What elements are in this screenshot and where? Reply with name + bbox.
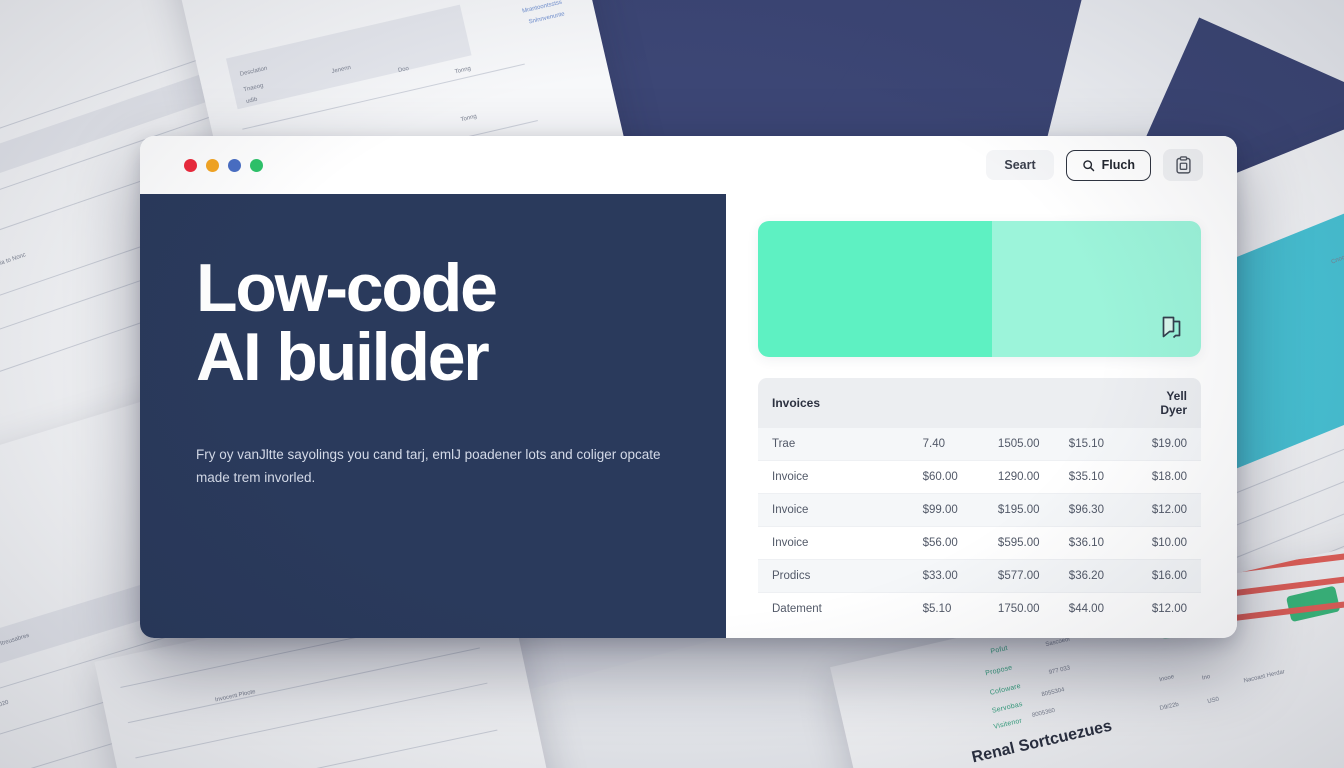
cell-tax: $35.10 xyxy=(1055,461,1130,494)
table-head: Invoices Yell Dyer xyxy=(758,378,1201,428)
restore-window-dot[interactable] xyxy=(250,159,263,172)
cell-label: Trae xyxy=(758,428,909,461)
cell-due: $12.00 xyxy=(1130,593,1201,626)
cell-total: $577.00 xyxy=(984,560,1055,593)
cell-amount: $99.00 xyxy=(909,494,984,527)
table-row[interactable]: Trae7.401505.00$15.10$19.00 xyxy=(758,428,1201,461)
cell-due: $12.00 xyxy=(1130,494,1201,527)
column-header-yell-dyer[interactable]: Yell Dyer xyxy=(1130,378,1201,428)
cell-label: Invoice xyxy=(758,527,909,560)
cell-due: $18.00 xyxy=(1130,461,1201,494)
clipboard-icon xyxy=(1175,156,1192,175)
hero-subtitle: Fry oy vanJltte sayolings you cand tarj,… xyxy=(196,443,666,490)
cell-total: 1750.00 xyxy=(984,593,1055,626)
cell-tax: $15.10 xyxy=(1055,428,1130,461)
cell-amount: $56.00 xyxy=(909,527,984,560)
cell-amount: $60.00 xyxy=(909,461,984,494)
invoices-table: Invoices Yell Dyer Trae7.401505.00$15.10… xyxy=(758,378,1201,625)
search-button-label: Fluch xyxy=(1102,158,1135,172)
toolbar-actions: Seart Fluch xyxy=(986,149,1203,181)
table-row[interactable]: Invoice$60.001290.00$35.10$18.00 xyxy=(758,461,1201,494)
cell-total: 1505.00 xyxy=(984,428,1055,461)
preview-panel: Invoices Yell Dyer Trae7.401505.00$15.10… xyxy=(726,194,1237,638)
page-title: Low-code AI builder xyxy=(196,254,670,393)
column-header-invoices[interactable]: Invoices xyxy=(758,378,909,428)
column-header-amount[interactable] xyxy=(909,378,984,428)
cell-amount: 7.40 xyxy=(909,428,984,461)
cell-tax: $36.20 xyxy=(1055,560,1130,593)
cell-total: 1290.00 xyxy=(984,461,1055,494)
table-row[interactable]: Prodics$33.00$577.00$36.20$16.00 xyxy=(758,560,1201,593)
cell-due: $19.00 xyxy=(1130,428,1201,461)
cell-label: Datement xyxy=(758,593,909,626)
cell-amount: $5.10 xyxy=(909,593,984,626)
maximize-window-dot[interactable] xyxy=(228,159,241,172)
table-header-row: Invoices Yell Dyer xyxy=(758,378,1201,428)
cell-total: $195.00 xyxy=(984,494,1055,527)
cell-tax: $36.10 xyxy=(1055,527,1130,560)
banner-card[interactable] xyxy=(758,221,1201,357)
scene: 1,350.00 ~ llast Intonste Pintsiny of fi… xyxy=(0,0,1344,768)
cell-amount: $33.00 xyxy=(909,560,984,593)
cell-due: $10.00 xyxy=(1130,527,1201,560)
banner-right-block xyxy=(992,221,1201,357)
hero-panel: Low-code AI builder Fry oy vanJltte sayo… xyxy=(140,194,726,638)
background-paper-title: Renal Sortcuezues xyxy=(970,718,1114,768)
cell-label: Invoice xyxy=(758,494,909,527)
minimize-window-dot[interactable] xyxy=(206,159,219,172)
invoices-table-element: Invoices Yell Dyer Trae7.401505.00$15.10… xyxy=(758,378,1201,625)
search-button[interactable]: Fluch xyxy=(1066,150,1151,181)
banner-left-block xyxy=(758,221,992,357)
window-titlebar: Seart Fluch xyxy=(140,136,1237,194)
table-body: Trae7.401505.00$15.10$19.00Invoice$60.00… xyxy=(758,428,1201,625)
clipboard-button[interactable] xyxy=(1163,149,1203,181)
cell-total: $595.00 xyxy=(984,527,1055,560)
column-header-total[interactable] xyxy=(984,378,1055,428)
app-window: Seart Fluch xyxy=(140,136,1237,638)
copy-cursor-icon xyxy=(1161,316,1183,345)
cell-label: Prodics xyxy=(758,560,909,593)
close-window-dot[interactable] xyxy=(184,159,197,172)
window-body: Low-code AI builder Fry oy vanJltte sayo… xyxy=(140,194,1237,638)
cell-tax: $96.30 xyxy=(1055,494,1130,527)
search-icon xyxy=(1082,159,1095,172)
table-row[interactable]: Datement$5.101750.00$44.00$12.00 xyxy=(758,593,1201,626)
table-row[interactable]: Invoice$99.00$195.00$96.30$12.00 xyxy=(758,494,1201,527)
table-row[interactable]: Invoice$56.00$595.00$36.10$10.00 xyxy=(758,527,1201,560)
cell-tax: $44.00 xyxy=(1055,593,1130,626)
cell-label: Invoice xyxy=(758,461,909,494)
cell-due: $16.00 xyxy=(1130,560,1201,593)
secondary-action-button[interactable]: Seart xyxy=(986,150,1053,180)
column-header-tax[interactable] xyxy=(1055,378,1130,428)
traffic-lights xyxy=(184,159,263,172)
